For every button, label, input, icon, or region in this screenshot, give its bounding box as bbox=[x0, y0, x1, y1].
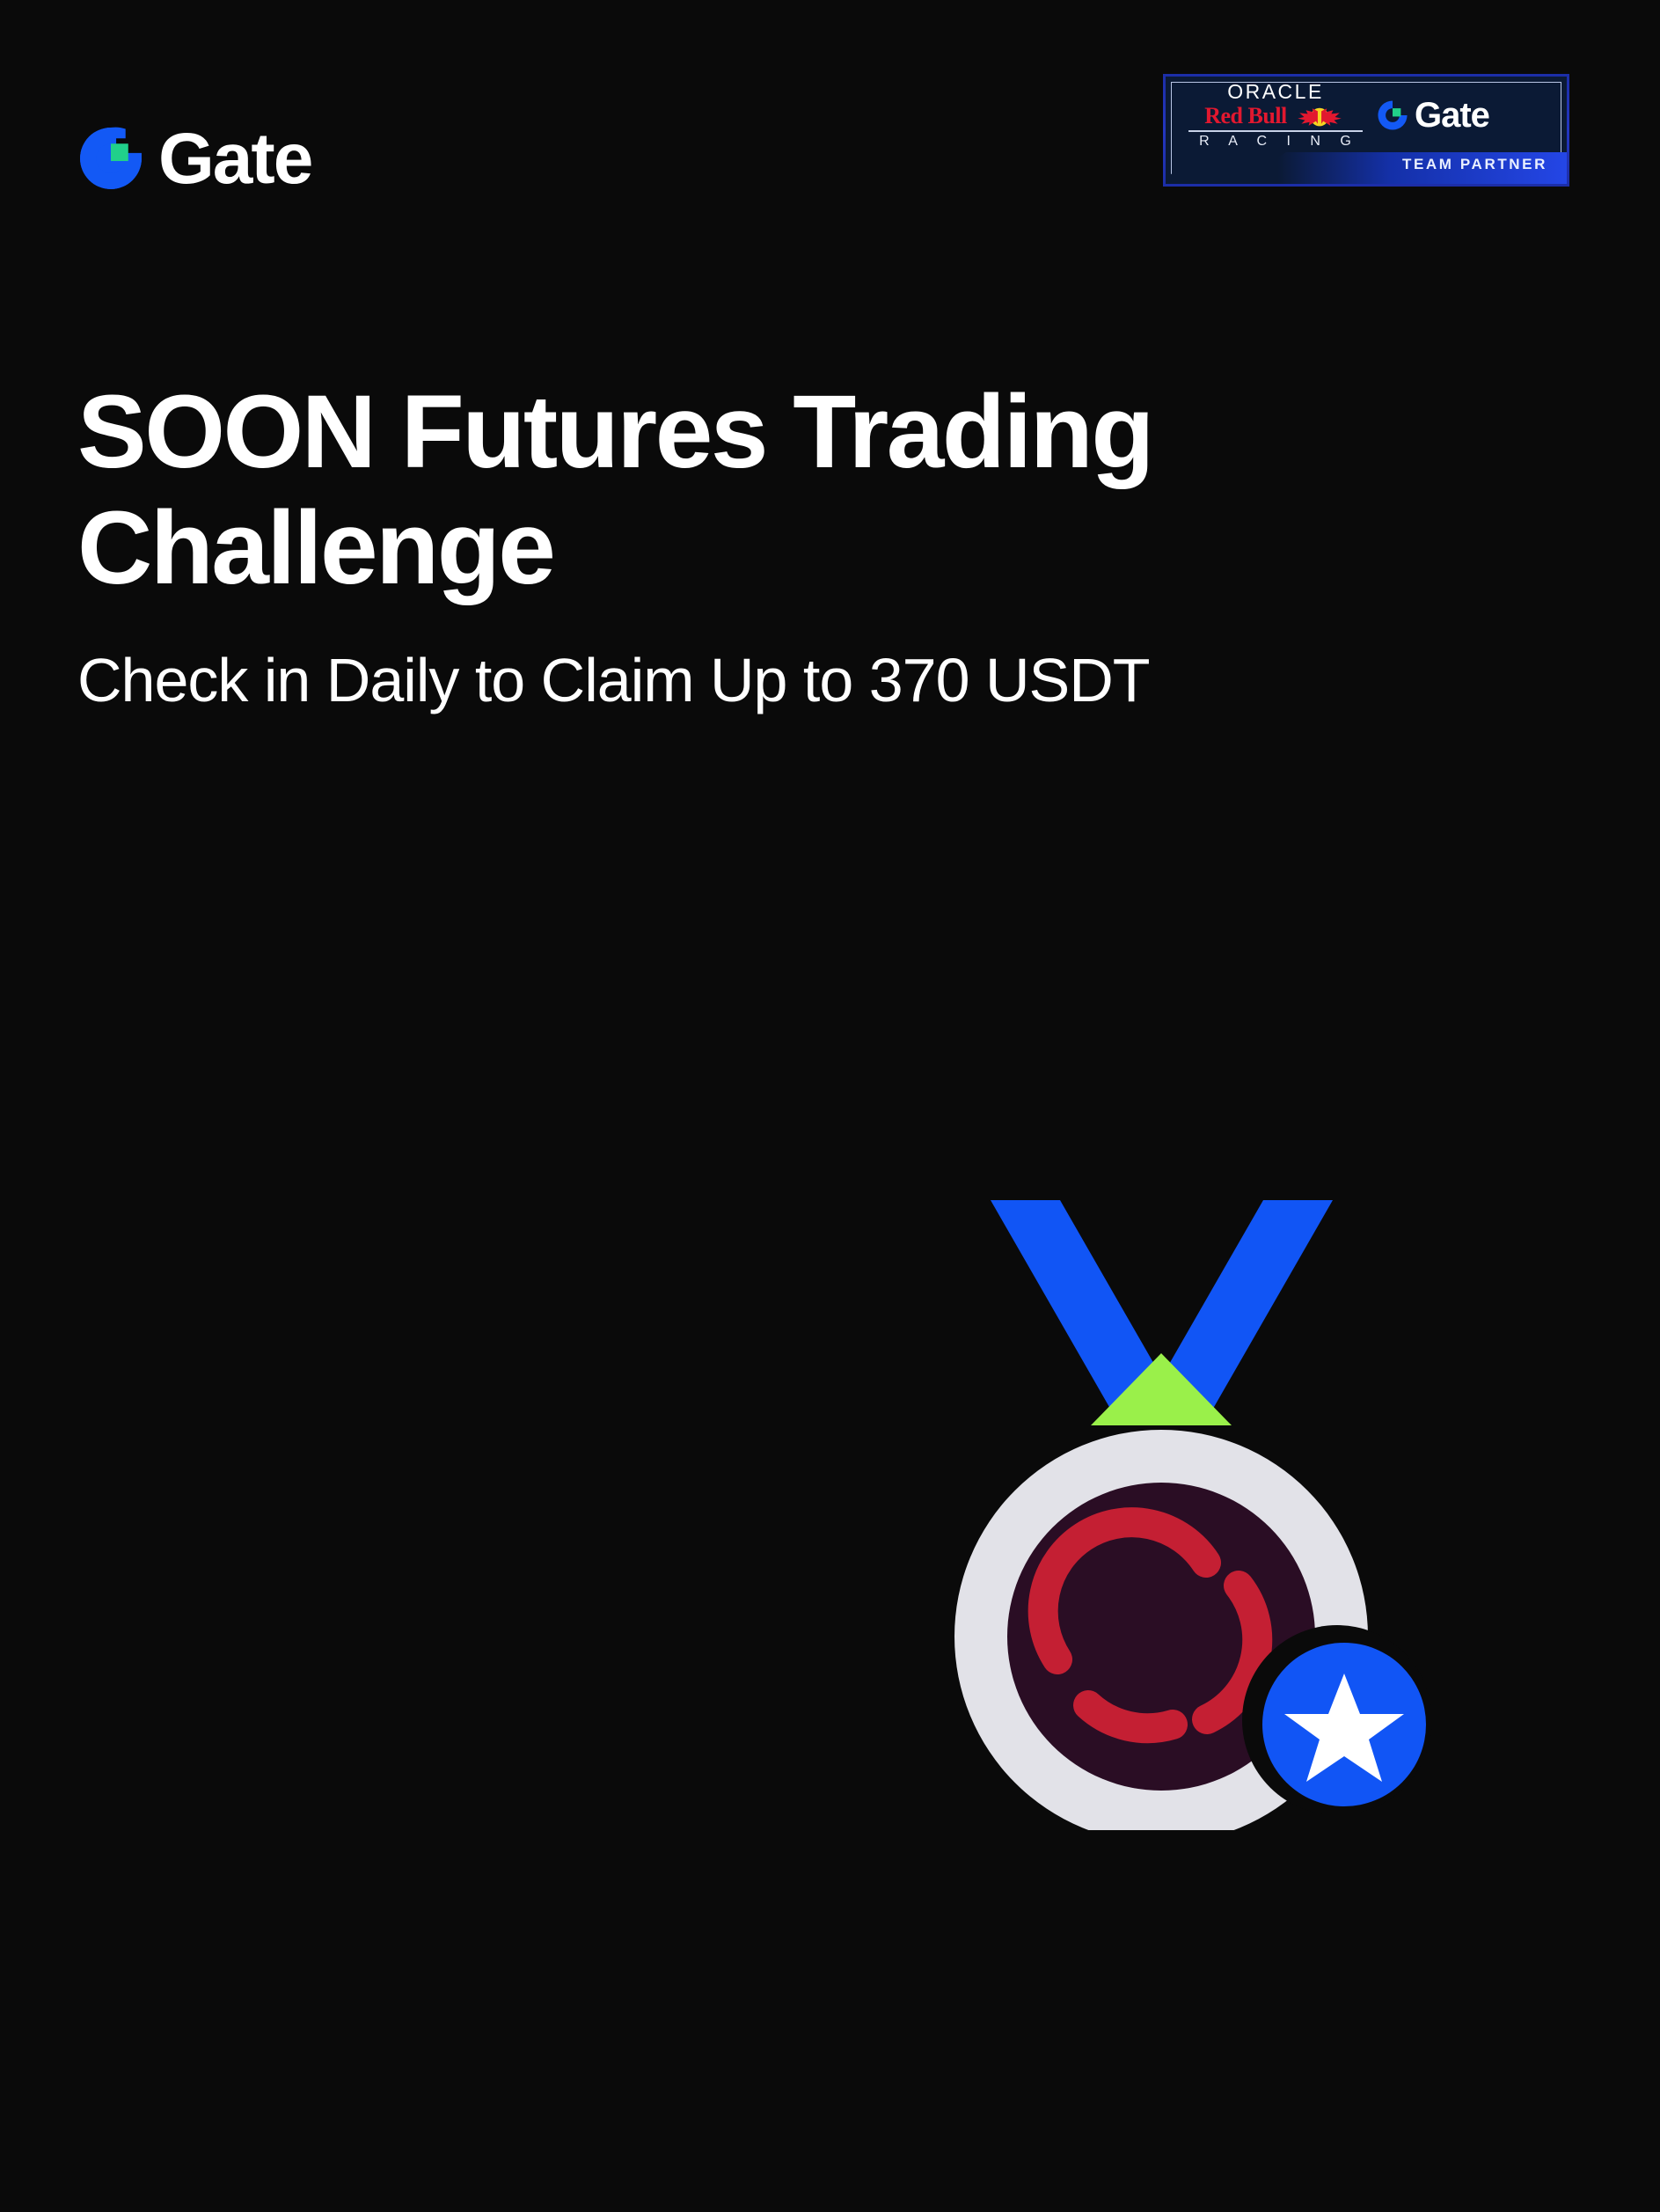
red-bull-text: Red Bull bbox=[1204, 105, 1287, 128]
gate-wordmark: Gate bbox=[158, 123, 311, 195]
badge-divider bbox=[1188, 130, 1363, 132]
racing-text: R A C I N G bbox=[1185, 135, 1366, 149]
badge-gate-wordmark: Gate bbox=[1415, 98, 1489, 133]
gate-brand-logo[interactable]: Gate bbox=[77, 121, 311, 195]
gate-logo-icon bbox=[1377, 99, 1408, 131]
red-bull-racing-partner-badge[interactable]: ORACLE Red Bull R A C I N G bbox=[1163, 74, 1569, 187]
badge-gate-lockup: Gate bbox=[1377, 98, 1489, 133]
ribbon-icon bbox=[991, 1200, 1333, 1425]
team-partner-band: TEAM PARTNER bbox=[1166, 149, 1567, 184]
medal-illustration bbox=[880, 1161, 1513, 1830]
gate-logo-icon bbox=[77, 125, 144, 192]
headline-block: SOON Futures Trading Challenge Check in … bbox=[77, 374, 1485, 717]
oracle-red-bull-racing-lockup: ORACLE Red Bull R A C I N G bbox=[1166, 82, 1366, 149]
team-partner-text: TEAM PARTNER bbox=[1402, 157, 1547, 172]
oracle-text: ORACLE bbox=[1185, 82, 1366, 102]
page-title: SOON Futures Trading Challenge bbox=[77, 374, 1485, 606]
page-subtitle: Check in Daily to Claim Up to 370 USDT bbox=[77, 643, 1485, 717]
red-bull-icon bbox=[1292, 105, 1347, 128]
promo-banner: Gate ORACLE Red Bull bbox=[0, 0, 1660, 2212]
star-badge-icon bbox=[1242, 1625, 1432, 1815]
